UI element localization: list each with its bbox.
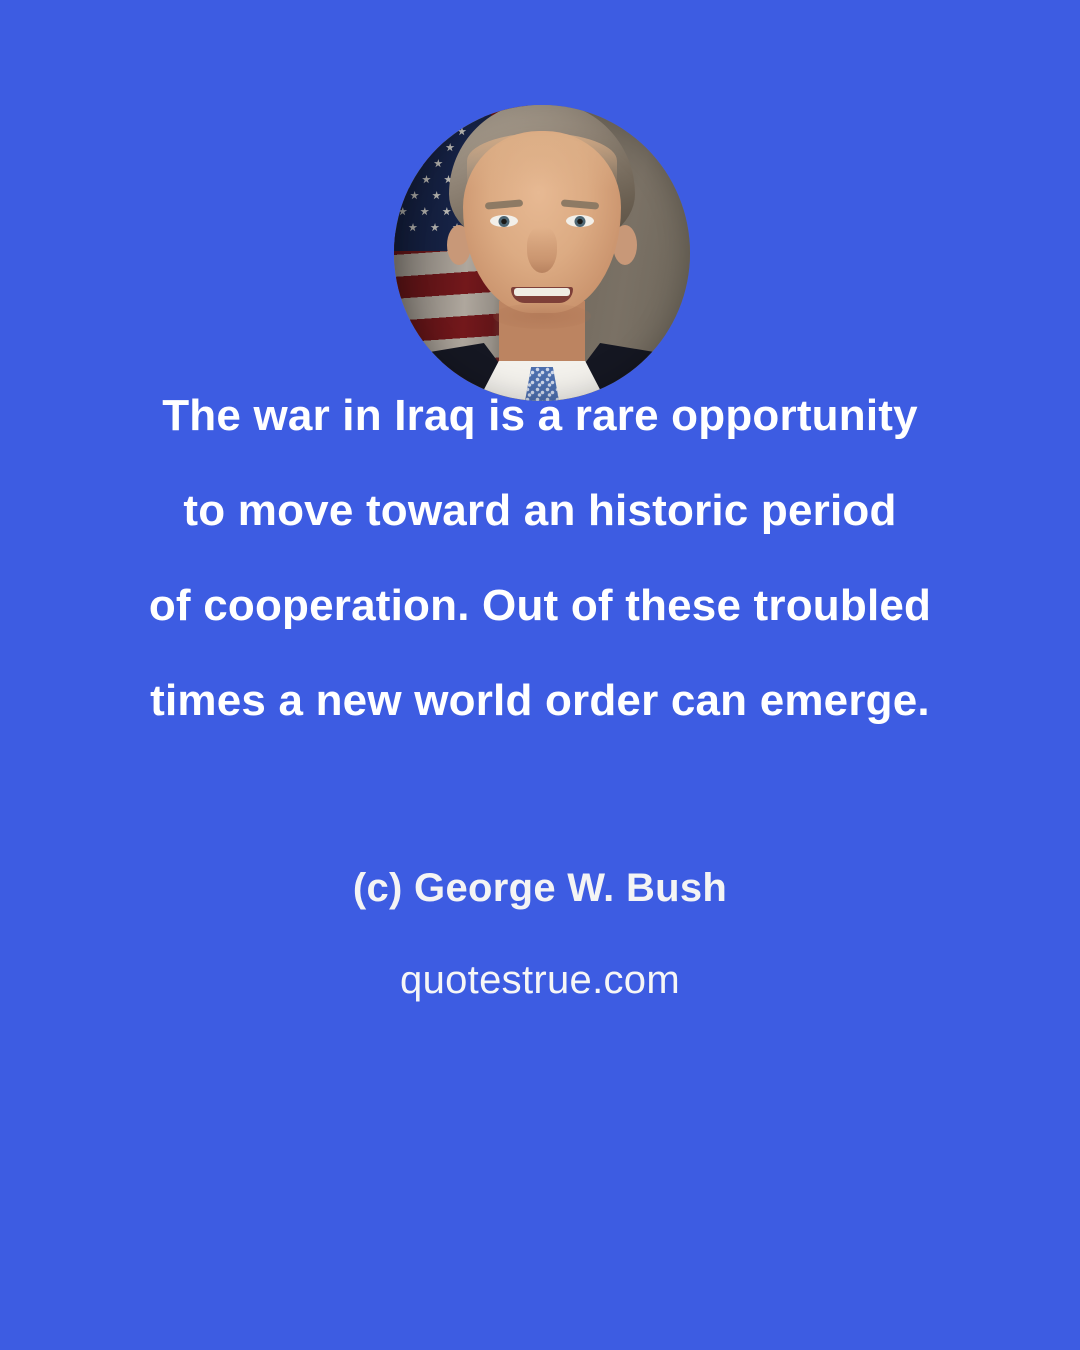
mouth [511, 287, 573, 303]
forehead-highlight [467, 133, 617, 189]
quote-card: The war in Iraq is a rare opportunity to… [0, 0, 1080, 1350]
portrait-figure [427, 105, 657, 401]
eye-left [490, 215, 518, 227]
quote-line: The war in Iraq is a rare opportunity [70, 368, 1010, 463]
chin-shading [493, 303, 591, 329]
site-watermark[interactable]: quotestrue.com [0, 958, 1080, 1003]
eye-right [566, 215, 594, 227]
quote-line: times a new world order can emerge. [70, 653, 1010, 748]
portrait-scene [394, 105, 690, 401]
quote-attribution: (c) George W. Bush [0, 866, 1080, 911]
portrait-avatar [394, 105, 690, 401]
quote-text: The war in Iraq is a rare opportunity to… [0, 368, 1080, 748]
nose [527, 227, 557, 273]
quote-line: to move toward an historic period [70, 463, 1010, 558]
quote-line: of cooperation. Out of these troubled [70, 558, 1010, 653]
